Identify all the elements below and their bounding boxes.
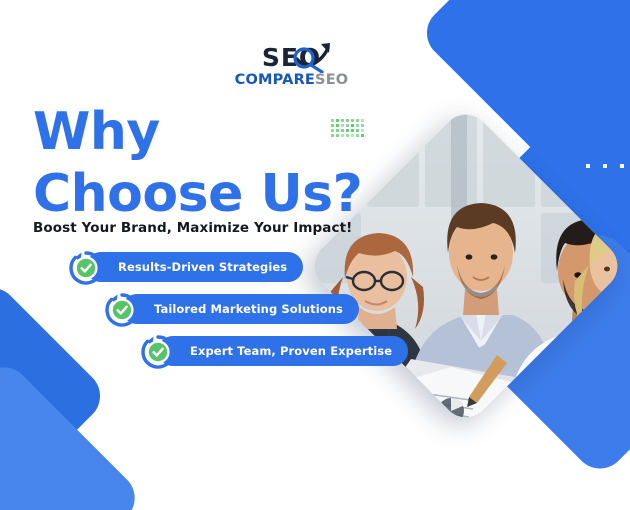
page-title-line1: Why xyxy=(33,102,160,162)
feature-label: Results-Driven Strategies xyxy=(86,252,303,282)
decor-white-dots xyxy=(586,164,624,168)
green-check-circle-icon xyxy=(140,334,176,370)
seo-arrow-magnifier-icon xyxy=(287,41,333,78)
page-subtitle: Boost Your Brand, Maximize Your Impact! xyxy=(33,220,352,236)
brand-logo: SEO COMPARESEO xyxy=(229,45,354,88)
white-dot xyxy=(620,164,624,168)
feature-label: Expert Team, Proven Expertise xyxy=(158,336,408,366)
green-check-circle-icon xyxy=(68,250,104,286)
page-title-line2: Choose Us? xyxy=(33,163,362,225)
green-check-circle-icon xyxy=(104,292,140,328)
logo-mark: SEO xyxy=(229,45,354,71)
feature-label: Tailored Marketing Solutions xyxy=(122,294,359,324)
white-dot xyxy=(603,164,607,168)
white-dot xyxy=(586,164,590,168)
page-title: Why Choose Us? xyxy=(33,101,362,225)
why-choose-us-poster: SEO COMPARESEO Why Choose Us? Boost Your… xyxy=(0,0,630,510)
